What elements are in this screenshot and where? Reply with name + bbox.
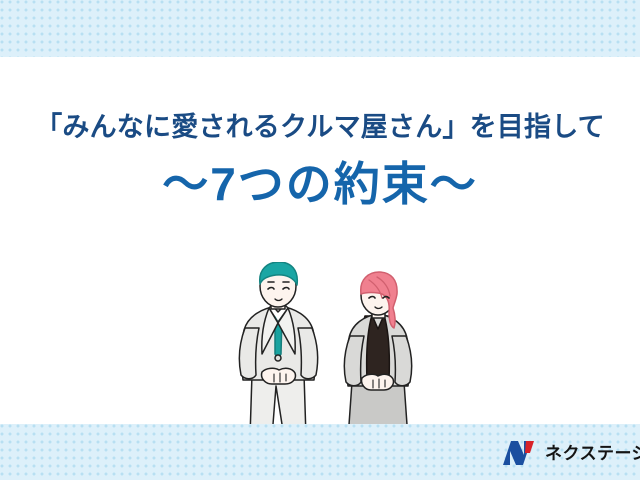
- female-hands: [362, 374, 394, 390]
- female-sleeve-right: [392, 336, 412, 386]
- male-sleeve-left: [239, 328, 259, 379]
- headline-secondary-text: ～7つの約束～: [0, 159, 640, 210]
- male-sleeve-right: [298, 328, 318, 379]
- promotional-banner: 「みんなに愛されるクルマ屋さん」を目指して ～7つの約束～: [0, 0, 640, 480]
- male-hands: [262, 368, 296, 384]
- staff-illustration-svg: [228, 262, 428, 444]
- top-dotted-band: [0, 0, 640, 57]
- nextage-logo-text: ネクステージ: [545, 445, 640, 462]
- male-jacket-button: [275, 355, 281, 361]
- nextage-mark-red-shape: [525, 441, 534, 453]
- male-staff-character: [239, 262, 317, 437]
- nextage-n-mark-icon: [502, 440, 538, 466]
- nextage-logo: ネクステージ: [502, 440, 640, 466]
- headline-block: 「みんなに愛されるクルマ屋さん」を目指して ～7つの約束～: [0, 112, 640, 210]
- staff-illustration: [228, 262, 428, 444]
- female-staff-character: [344, 272, 411, 439]
- headline-primary-text: 「みんなに愛されるクルマ屋さん」を目指して: [0, 112, 640, 143]
- female-sleeve-left: [344, 336, 364, 386]
